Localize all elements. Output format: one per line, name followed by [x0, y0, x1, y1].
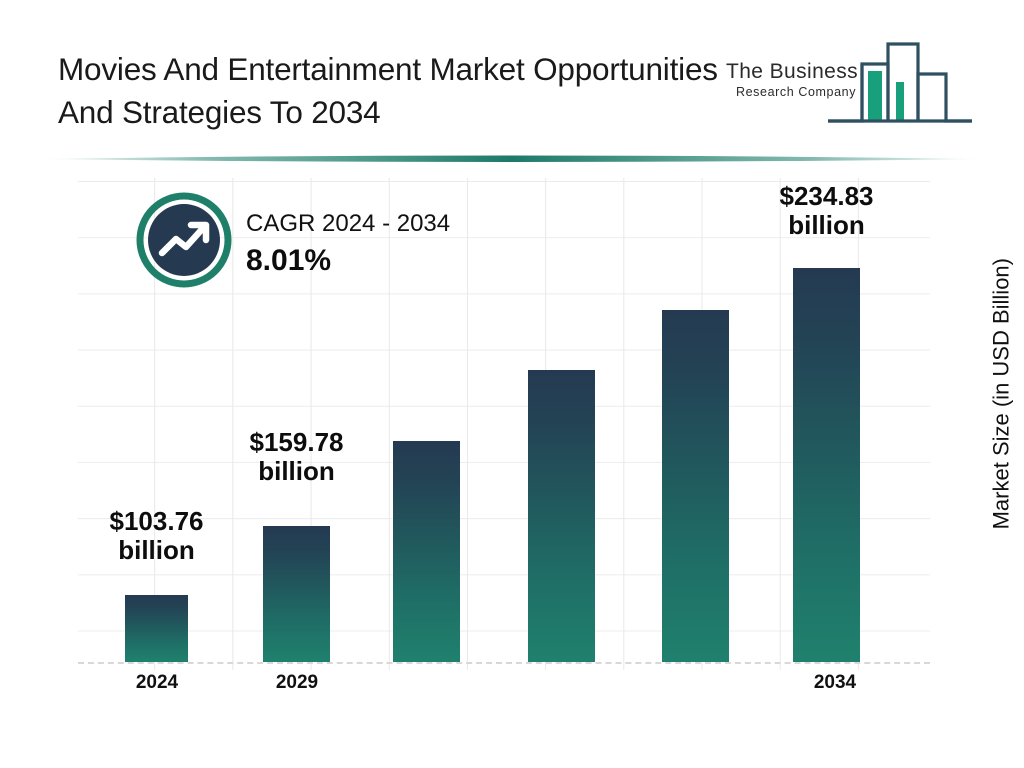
page-header: Movies And Entertainment Market Opportun…	[0, 0, 1024, 150]
x-tick-2024: 2024	[102, 672, 212, 694]
company-logo: The Business Research Company	[726, 38, 974, 130]
x-tick-2029: 2029	[242, 672, 352, 694]
trending-up-icon	[136, 192, 232, 288]
bar-2034[interactable]	[793, 268, 860, 662]
bar-2025[interactable]	[263, 526, 330, 662]
bar-2028[interactable]	[662, 310, 729, 662]
value-label-2034-unit: billion	[734, 211, 919, 240]
cagr-value: 8.01%	[246, 244, 331, 278]
bar-2024[interactable]	[125, 595, 188, 662]
header-divider	[40, 152, 984, 166]
x-tick-2034: 2034	[780, 672, 890, 694]
y-axis-label: Market Size (in USD Billion)	[988, 258, 1014, 529]
axis-baseline	[78, 662, 930, 664]
bar-chart-logo-mark-icon	[826, 38, 974, 130]
value-label-2034-amount: $234.83	[734, 182, 919, 211]
value-label-2024-amount: $103.76	[64, 507, 249, 536]
page-title: Movies And Entertainment Market Opportun…	[58, 48, 718, 135]
value-label-2029: $159.78 billion	[204, 428, 389, 487]
value-label-2034: $234.83 billion	[734, 182, 919, 241]
cagr-badge: CAGR 2024 - 2034 8.01%	[98, 192, 528, 302]
bar-2027[interactable]	[528, 370, 595, 662]
value-label-2029-unit: billion	[204, 457, 389, 486]
bar-2026[interactable]	[393, 441, 460, 662]
cagr-period-label: CAGR 2024 - 2034	[246, 210, 450, 238]
value-label-2024-unit: billion	[64, 536, 249, 565]
bar-chart: $103.76 billion $159.78 billion $234.83 …	[40, 170, 984, 730]
value-label-2024: $103.76 billion	[64, 507, 249, 566]
value-label-2029-amount: $159.78	[204, 428, 389, 457]
chart-page: Movies And Entertainment Market Opportun…	[0, 0, 1024, 768]
